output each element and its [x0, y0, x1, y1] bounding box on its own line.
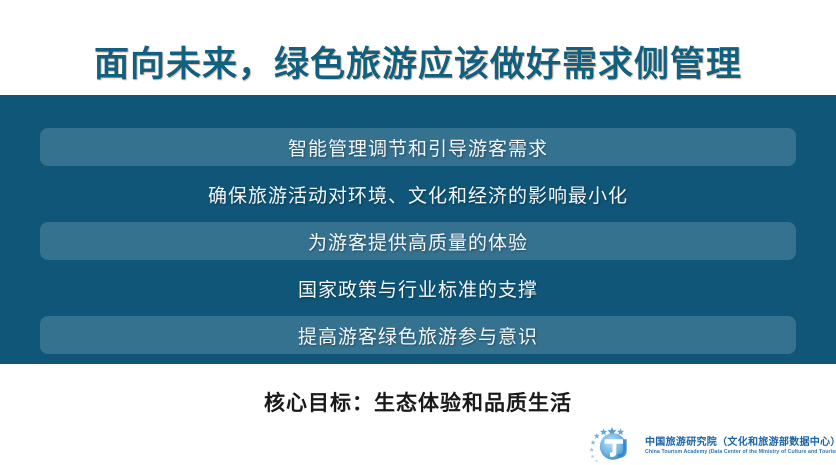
- list-item-label: 为游客提供高质量的体验: [308, 228, 528, 255]
- list-item-label: 确保旅游活动对环境、文化和经济的影响最小化: [208, 181, 628, 208]
- logo-text-block: 中国旅游研究院（文化和旅游部数据中心） China Tourism Academ…: [645, 433, 836, 455]
- list-item[interactable]: 国家政策与行业标准的支撑: [40, 269, 796, 307]
- list-item-label: 国家政策与行业标准的支撑: [298, 275, 538, 302]
- logo-name-cn: 中国旅游研究院（文化和旅游部数据中心）: [645, 433, 836, 448]
- content-panel: 智能管理调节和引导游客需求 确保旅游活动对环境、文化和经济的影响最小化 为游客提…: [0, 95, 836, 364]
- bullet-list: 智能管理调节和引导游客需求 确保旅游活动对环境、文化和经济的影响最小化 为游客提…: [40, 128, 796, 363]
- page-title: 面向未来，绿色旅游应该做好需求侧管理: [0, 36, 836, 87]
- list-item-label: 提高游客绿色旅游参与意识: [298, 322, 538, 349]
- list-item[interactable]: 提高游客绿色旅游参与意识: [40, 316, 796, 354]
- list-item[interactable]: 确保旅游活动对环境、文化和经济的影响最小化: [40, 175, 796, 213]
- list-item[interactable]: 为游客提供高质量的体验: [40, 222, 796, 260]
- list-item[interactable]: 智能管理调节和引导游客需求: [40, 128, 796, 166]
- china-tourism-academy-logo-icon: [586, 426, 638, 462]
- logo-name-en: China Tourism Academy (Data Center of th…: [645, 449, 836, 455]
- organization-logo: 中国旅游研究院（文化和旅游部数据中心） China Tourism Academ…: [586, 426, 836, 462]
- conclusion-text: 核心目标：生态体验和品质生活: [0, 387, 836, 417]
- list-item-label: 智能管理调节和引导游客需求: [288, 134, 548, 161]
